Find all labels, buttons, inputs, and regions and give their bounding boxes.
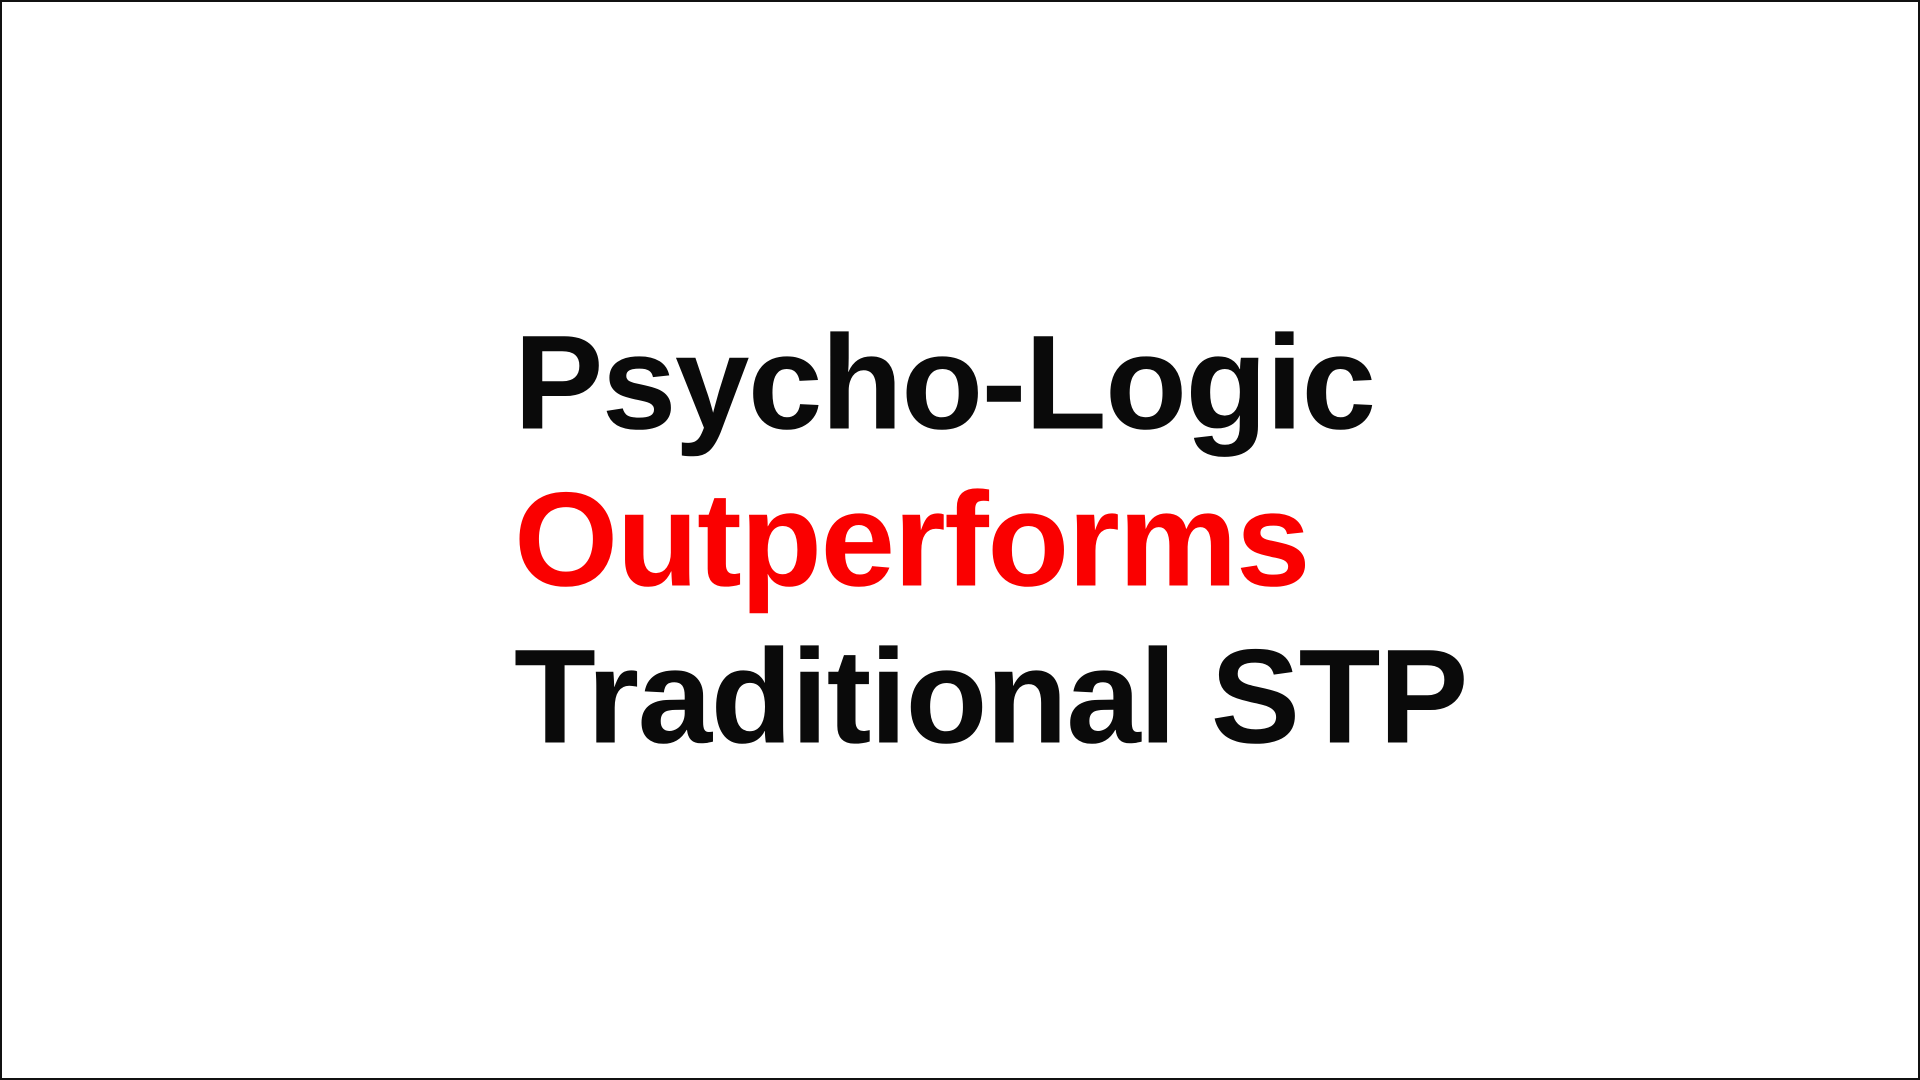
slide-canvas: Psycho-Logic Outperforms Traditional STP <box>0 0 1920 1080</box>
headline-line-outperforms: Outperforms <box>514 462 1467 619</box>
headline-line-psycho-logic: Psycho-Logic <box>514 305 1467 462</box>
headline-line-traditional-stp: Traditional STP <box>514 619 1467 776</box>
headline-block: Psycho-Logic Outperforms Traditional STP <box>514 305 1467 776</box>
